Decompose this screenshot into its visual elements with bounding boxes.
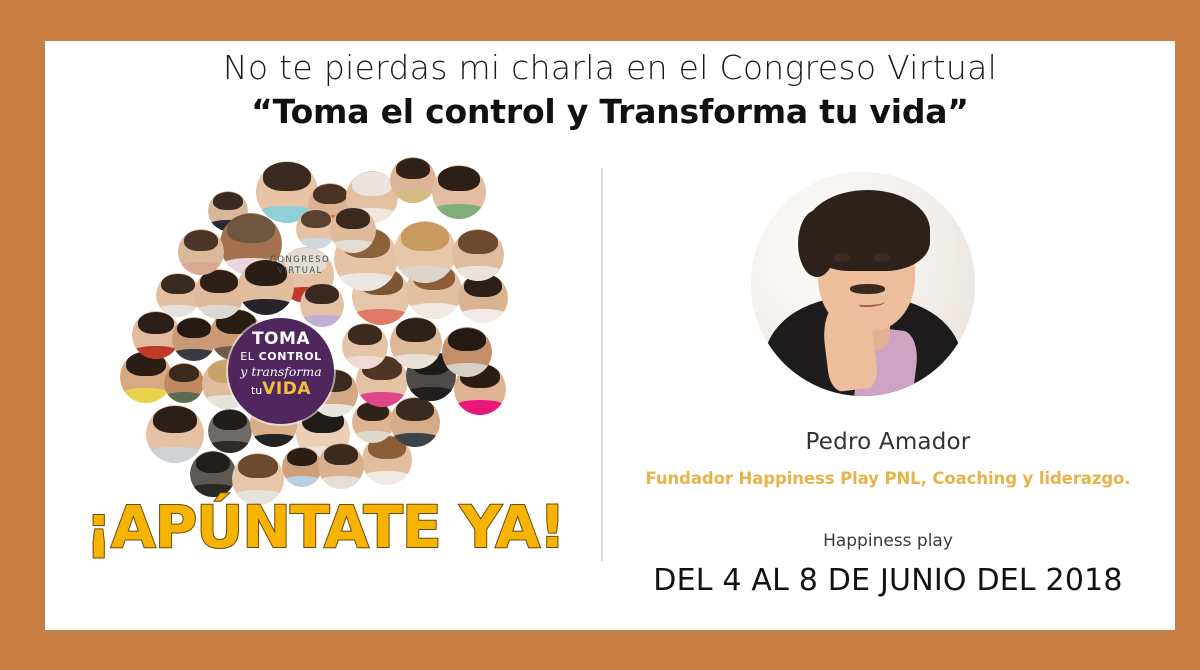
thumbnail-body [194, 305, 244, 319]
headline-line-2: “Toma el control y Transforma tu vida” [45, 91, 1175, 134]
badge-toma: TOMA [228, 331, 334, 348]
thumbnail-hair [161, 274, 194, 294]
thumbnail-body [318, 476, 364, 489]
thumbnail-hair [438, 166, 479, 191]
thumbnail-hair [352, 172, 392, 196]
thumbnail-hair [313, 184, 346, 204]
thumbnail-body [238, 299, 294, 315]
badge-subtitle: CONGRESO VIRTUAL [60, 255, 540, 276]
thumbnail-body [432, 204, 486, 219]
badge-subtitle-line-1: CONGRESO [60, 255, 540, 266]
badge-vida: VIDA [262, 379, 311, 399]
speaker-name: Pedro Amador [601, 429, 1175, 455]
badge-el: EL [240, 350, 254, 363]
speaker-role: Fundador Happiness Play PNL, Coaching y … [641, 467, 1135, 490]
badge-tu: tu [251, 384, 262, 397]
thumbnail-hair [458, 230, 498, 254]
badge-control: CONTROL [259, 350, 322, 363]
thumbnail-hair [396, 318, 436, 342]
vertical-divider [601, 168, 603, 561]
thumbnail-body [390, 190, 436, 203]
thumbnail-hair [348, 324, 383, 345]
thumbnail-body [146, 447, 204, 463]
collage-thumbnail [390, 317, 442, 369]
event-dates: DEL 4 AL 8 DE JUNIO DEL 2018 [601, 563, 1175, 598]
congress-logo-badge: TOMA EL CONTROL y transforma tuVIDA [228, 318, 334, 424]
thumbnail-hair [263, 162, 310, 191]
thumbnail-body [250, 434, 298, 447]
thumbnail-body [390, 433, 440, 447]
badge-transforma: y transforma [228, 365, 334, 379]
collage-thumbnail [442, 327, 492, 377]
thumbnail-hair [238, 454, 278, 478]
thumbnail-hair [336, 208, 371, 229]
collage-thumbnail [146, 405, 204, 463]
thumbnail-body [352, 431, 394, 443]
collage-thumbnail [330, 207, 376, 253]
badge-subtitle-line-2: VIRTUAL [60, 266, 540, 277]
promo-poster: No te pierdas mi charla en el Congreso V… [0, 0, 1200, 670]
thumbnail-body [442, 363, 492, 377]
signup-cta[interactable]: ¡APÚNTATE YA! [55, 493, 595, 561]
thumbnail-hair [169, 364, 199, 382]
collage-thumbnail [352, 401, 394, 443]
collage-thumbnail [300, 283, 344, 327]
poster-card: No te pierdas mi charla en el Congreso V… [45, 41, 1175, 630]
collage-thumbnail [194, 269, 244, 319]
badge-tu-vida: tuVIDA [228, 380, 334, 399]
thumbnail-body [330, 240, 376, 253]
speaker-organization: Happiness play [601, 531, 1175, 551]
thumbnail-hair [396, 158, 431, 179]
collage-thumbnail [282, 447, 322, 487]
thumbnail-body [282, 476, 322, 487]
portrait-moustache [850, 284, 886, 294]
thumbnail-body [342, 356, 388, 369]
thumbnail-body [390, 354, 442, 369]
headline-block: No te pierdas mi charla en el Congreso V… [45, 49, 1175, 134]
portrait-eye-right [874, 253, 890, 262]
thumbnail-body [458, 309, 508, 323]
thumbnail-body [406, 387, 456, 401]
thumbnail-hair [448, 328, 486, 351]
thumbnail-body [356, 392, 408, 407]
collage-thumbnail [432, 165, 486, 219]
collage-thumbnail [208, 409, 252, 453]
speakers-collage: TOMA EL CONTROL y transforma tuVIDA CONG… [60, 151, 540, 551]
thumbnail-body [164, 392, 204, 403]
collage-thumbnail [390, 157, 436, 203]
thumbnail-hair [301, 210, 331, 228]
thumbnail-hair [213, 410, 246, 430]
collage-thumbnail [164, 363, 204, 403]
thumbnail-hair [153, 406, 197, 433]
thumbnail-hair [184, 230, 219, 251]
portrait-hair-side [798, 210, 836, 277]
thumbnail-hair [324, 444, 359, 465]
thumbnail-hair [287, 448, 317, 466]
thumbnail-hair [177, 318, 210, 338]
badge-el-control: EL CONTROL [228, 350, 334, 364]
thumbnail-body [454, 400, 506, 415]
thumbnail-hair [305, 284, 338, 304]
collage-thumbnail [342, 323, 388, 369]
thumbnail-hair [401, 222, 448, 251]
portrait-eye-left [834, 253, 850, 262]
thumbnail-body [362, 471, 412, 485]
speaker-photo [751, 172, 975, 396]
thumbnail-hair [213, 192, 243, 210]
collage-thumbnail [318, 443, 364, 489]
headline-line-1: No te pierdas mi charla en el Congreso V… [45, 49, 1175, 88]
